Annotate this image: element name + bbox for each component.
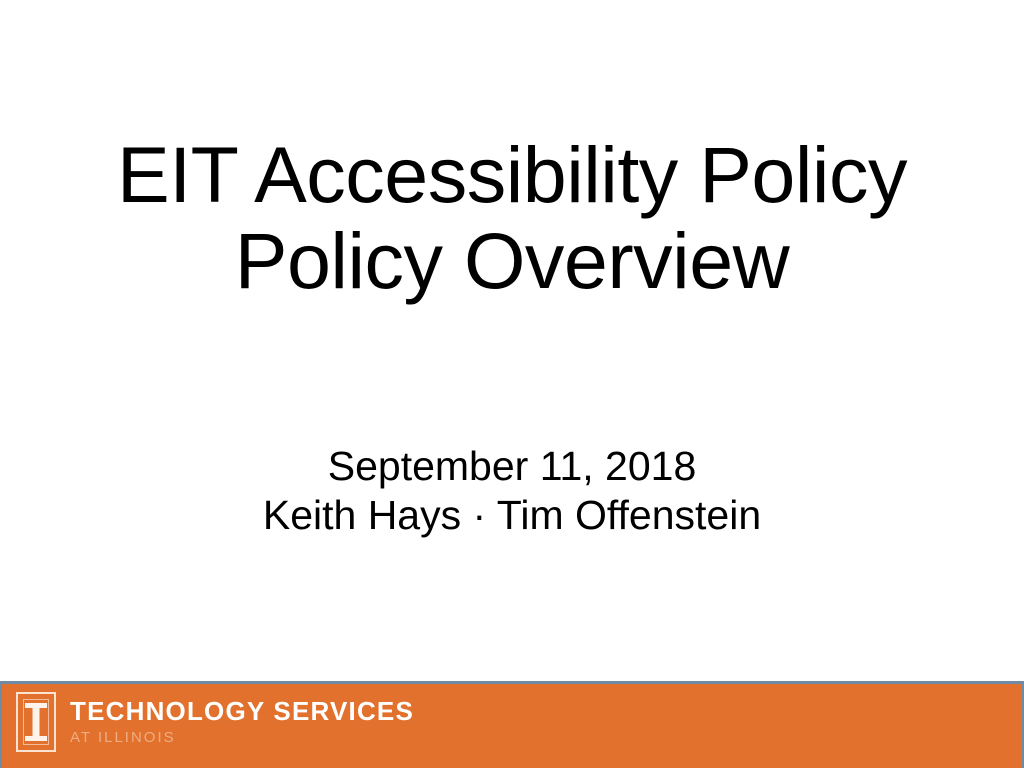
illinois-block-i-icon (16, 692, 56, 752)
slide-subtitle: September 11, 2018 Keith Hays · Tim Offe… (0, 442, 1024, 540)
wordmark: TECHNOLOGY SERVICES AT ILLINOIS (70, 692, 414, 748)
subtitle-presenters: Keith Hays · Tim Offenstein (0, 491, 1024, 540)
presentation-slide: EIT Accessibility Policy Policy Overview… (0, 0, 1024, 768)
logo-i-bottom-slab (25, 736, 47, 741)
title-line-1: EIT Accessibility Policy (0, 132, 1024, 218)
footer-logo-group: TECHNOLOGY SERVICES AT ILLINOIS (16, 692, 414, 752)
slide-title: EIT Accessibility Policy Policy Overview (0, 132, 1024, 304)
wordmark-primary-text: TECHNOLOGY SERVICES (70, 696, 414, 726)
footer-brand-band: TECHNOLOGY SERVICES AT ILLINOIS (0, 681, 1024, 768)
logo-i-stem (33, 707, 40, 737)
wordmark-secondary-text: AT ILLINOIS (70, 728, 414, 748)
subtitle-date: September 11, 2018 (0, 442, 1024, 491)
title-line-2: Policy Overview (0, 218, 1024, 304)
logo-i-glyph (25, 703, 47, 741)
